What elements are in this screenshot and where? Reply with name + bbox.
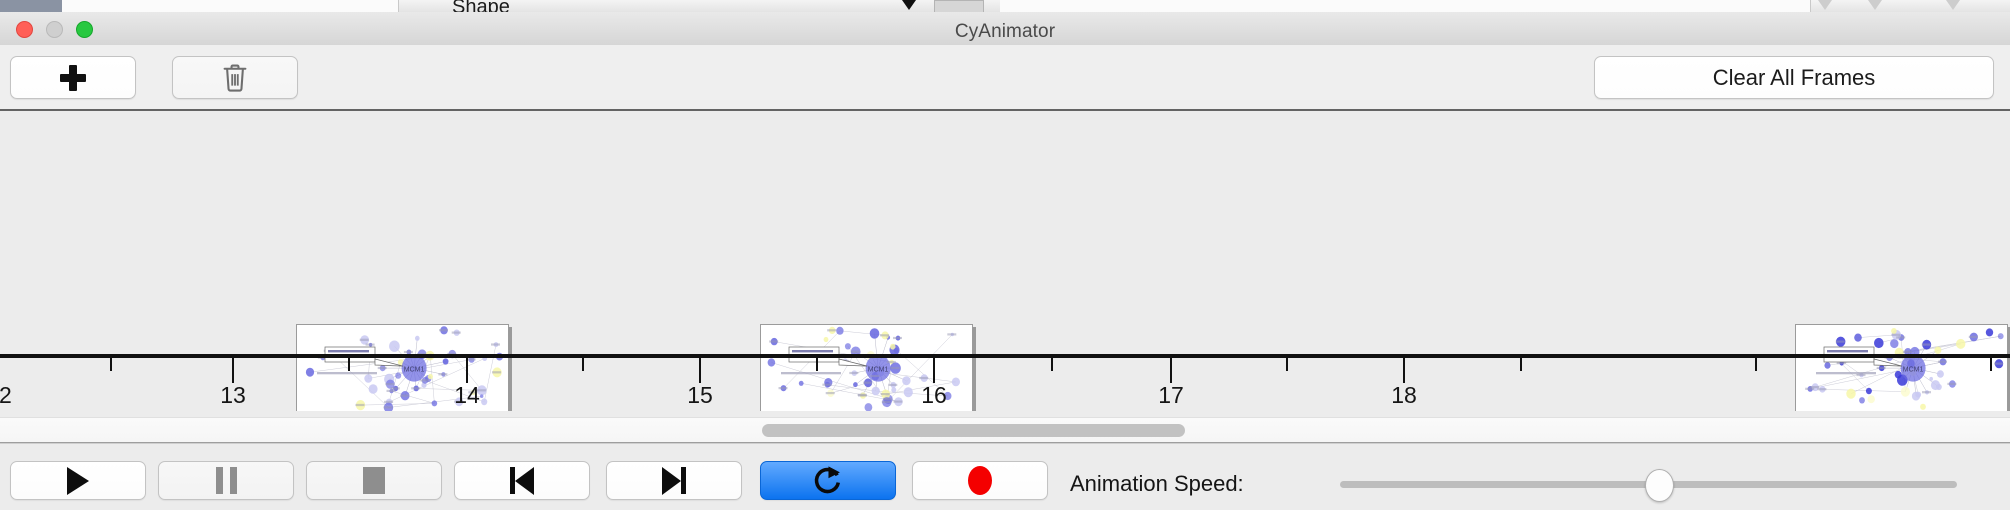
- cyanimator-window: Shape CyAnimator Clear All Frames MC: [0, 0, 2010, 510]
- record-button[interactable]: [912, 461, 1048, 500]
- background-marker-icon: [902, 0, 916, 10]
- scrollbar-thumb[interactable]: [762, 424, 1185, 437]
- axis-tick-major: [232, 358, 234, 383]
- axis-tick-major: [699, 358, 701, 383]
- animation-speed-label: Animation Speed:: [1070, 471, 1244, 497]
- background-panel-3: [242, 0, 309, 12]
- trash-icon: [221, 63, 249, 93]
- axis-tick-minor: [1520, 358, 1522, 371]
- axis-tick-major: [466, 358, 468, 383]
- axis-tick-minor: [1051, 358, 1053, 371]
- background-window-label: Shape: [452, 0, 510, 12]
- frames-layer: MCM1MCM1MCM1: [0, 111, 2010, 301]
- background-panel-1: [62, 0, 185, 12]
- stop-button[interactable]: [306, 461, 442, 500]
- background-panel-2: [184, 0, 243, 12]
- axis-tick-label: 17: [1158, 382, 1184, 409]
- timeline-scrollbar[interactable]: [0, 417, 2010, 443]
- previous-frame-button[interactable]: [454, 461, 590, 500]
- clear-all-frames-button[interactable]: Clear All Frames: [1594, 56, 1994, 99]
- axis-tick-major: [1170, 358, 1172, 383]
- axis-tick-label: 16: [921, 382, 947, 409]
- background-sidebar: [0, 0, 62, 12]
- background-window-strip: Shape: [0, 0, 2010, 12]
- axis-tick-major: [933, 358, 935, 383]
- loop-icon: [813, 465, 843, 497]
- axis-baseline: [0, 354, 2010, 358]
- timeline-panel[interactable]: MCM1MCM1MCM1 12131415161718 Seconds: [0, 111, 2010, 411]
- axis-tick-label: 14: [454, 382, 480, 409]
- axis-tick-minor: [1990, 358, 1992, 371]
- window-title: CyAnimator: [0, 21, 2010, 43]
- loop-button[interactable]: [760, 461, 896, 500]
- axis-tick-label: 18: [1391, 382, 1417, 409]
- skip-forward-icon: [662, 467, 686, 495]
- add-frame-button[interactable]: [10, 56, 136, 99]
- stop-icon: [363, 467, 385, 494]
- pause-icon: [216, 467, 237, 494]
- play-icon: [67, 467, 89, 495]
- clear-all-frames-label: Clear All Frames: [1713, 65, 1876, 91]
- axis-tick-major: [1403, 358, 1405, 383]
- play-button[interactable]: [10, 461, 146, 500]
- axis-tick-label: 15: [687, 382, 713, 409]
- skip-back-icon: [510, 467, 534, 495]
- delete-frame-button[interactable]: [172, 56, 298, 99]
- next-frame-button[interactable]: [606, 461, 742, 500]
- axis-tick-minor: [1755, 358, 1757, 371]
- animation-speed-slider-thumb[interactable]: [1645, 469, 1674, 502]
- axis-tick-minor: [348, 358, 350, 371]
- axis-tick-minor: [1286, 358, 1288, 371]
- axis-tick-minor: [816, 358, 818, 371]
- background-marker2-icon: [1818, 0, 1832, 10]
- axis-tick-label: 13: [220, 382, 246, 409]
- pause-button[interactable]: [158, 461, 294, 500]
- background-marker3-icon: [1868, 0, 1882, 10]
- axis-tick-minor: [582, 358, 584, 371]
- axis-tick-label: 12: [0, 382, 12, 409]
- time-axis: 12131415161718: [0, 354, 2010, 411]
- plus-icon: [59, 64, 87, 92]
- title-bar: CyAnimator: [0, 12, 2010, 46]
- background-marker4-icon: [1946, 0, 1960, 10]
- record-icon: [968, 466, 992, 495]
- background-chip: [934, 0, 984, 12]
- background-panel-4: [308, 0, 399, 12]
- background-panel-5: [1000, 0, 1811, 12]
- axis-tick-minor: [110, 358, 112, 371]
